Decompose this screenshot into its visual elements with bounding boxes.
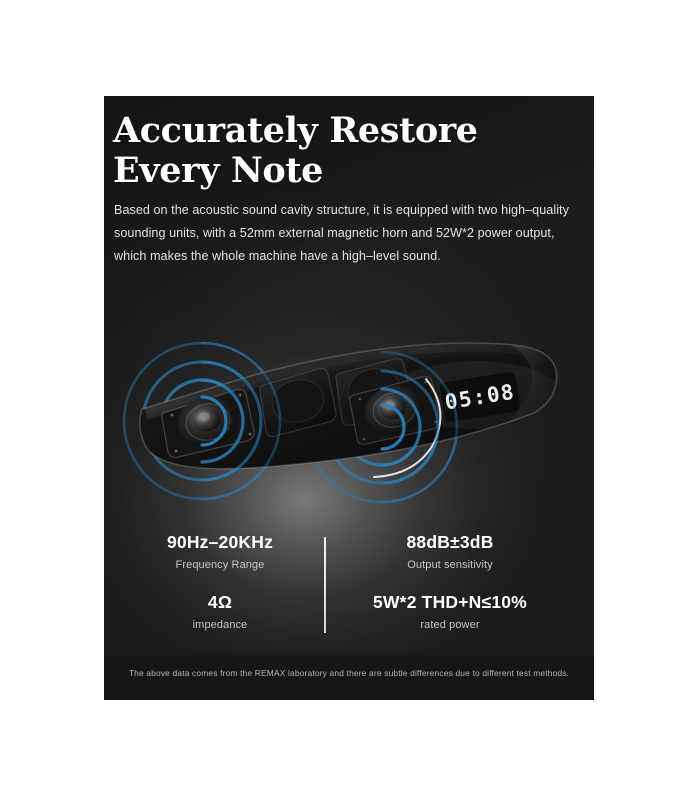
spec-value: 4Ω <box>120 592 320 614</box>
spec-label: Output sensitivity <box>350 559 550 572</box>
spec-value: 5W*2 THD+N≤10% <box>334 592 566 614</box>
spec-value: 90Hz–20KHz <box>120 532 320 554</box>
footer-band: The above data comes from the REMAX labo… <box>104 656 594 700</box>
soundbar-illustration: 05:08 <box>104 291 594 511</box>
description-text: Based on the acoustic sound cavity struc… <box>114 199 582 268</box>
page-root: Accurately Restore Every Note Based on t… <box>0 0 700 800</box>
spec-item-frequency-range: 90Hz–20KHz Frequency Range <box>120 532 320 572</box>
feature-panel: Accurately Restore Every Note Based on t… <box>104 96 594 700</box>
page-title: Accurately Restore Every Note <box>113 111 573 191</box>
spec-item-impedance: 4Ω impedance <box>120 592 320 632</box>
spec-grid: 90Hz–20KHz Frequency Range 88dB±3dB Outp… <box>118 526 580 646</box>
spec-label: impedance <box>120 619 320 632</box>
spec-item-output-sensitivity: 88dB±3dB Output sensitivity <box>350 532 550 572</box>
heading-line-2: Every Note <box>113 151 573 191</box>
product-image: 05:08 <box>104 291 594 511</box>
spec-item-rated-power: 5W*2 THD+N≤10% rated power <box>334 592 566 632</box>
spec-label: Frequency Range <box>120 559 320 572</box>
heading-line-1: Accurately Restore <box>113 110 478 151</box>
spec-label: rated power <box>334 619 566 632</box>
spec-value: 88dB±3dB <box>350 532 550 554</box>
spec-column-divider <box>324 537 326 633</box>
disclaimer-text: The above data comes from the REMAX labo… <box>104 668 594 678</box>
